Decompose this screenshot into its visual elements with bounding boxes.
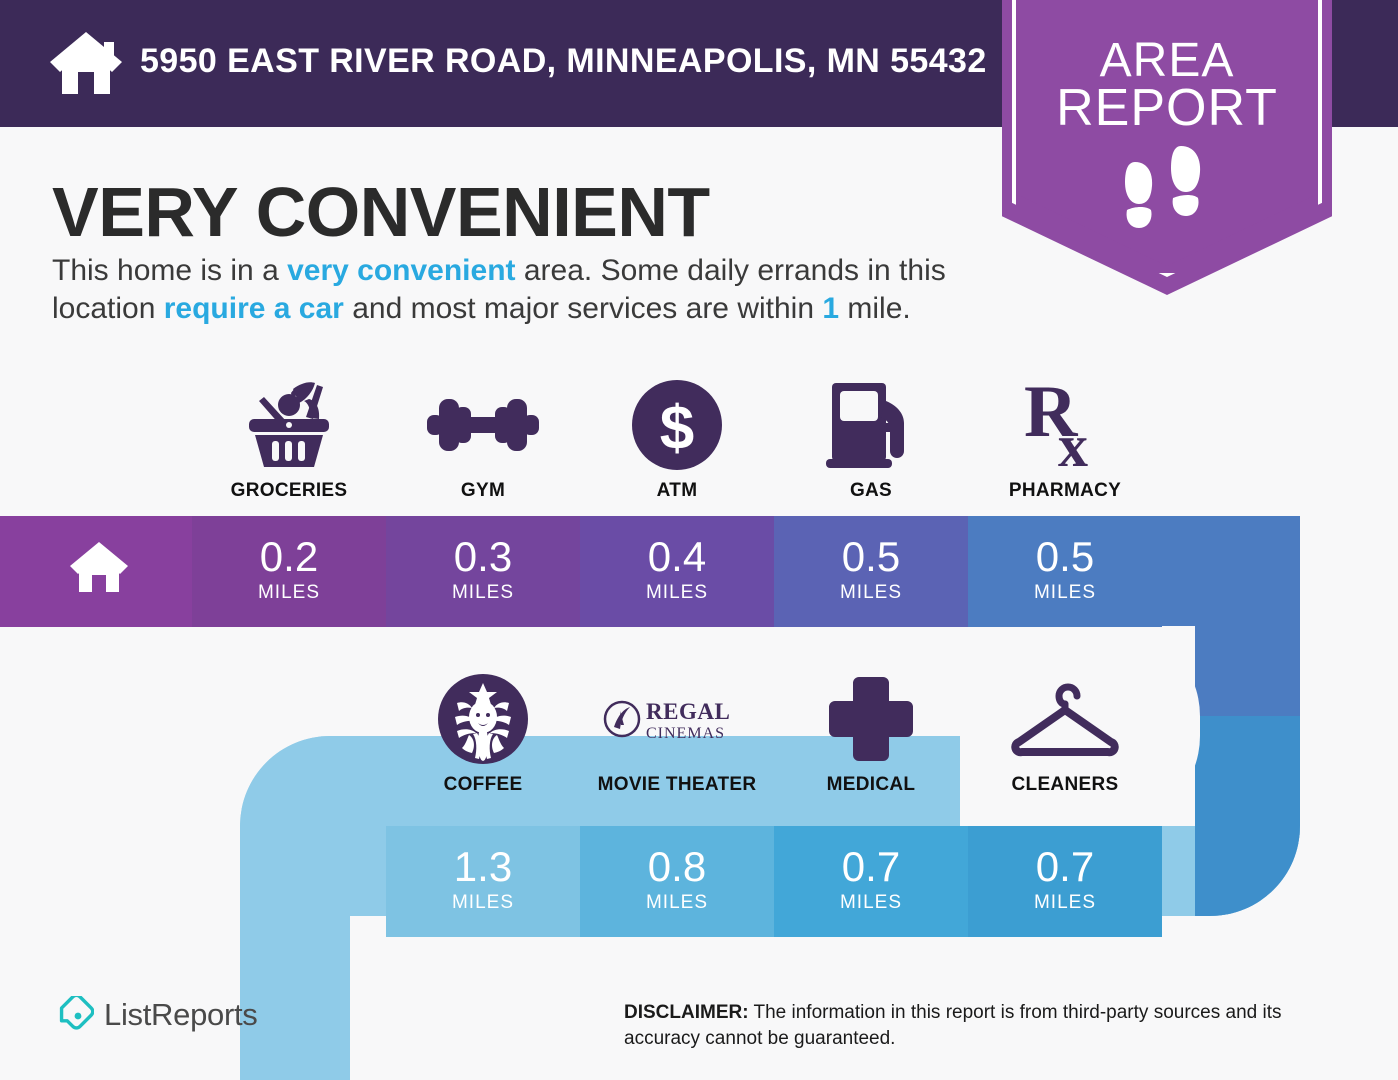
distance-segment-groceries: 0.2 MILES — [192, 516, 386, 627]
distance-segment-atm: 0.4 MILES — [580, 516, 774, 627]
distance-unit: MILES — [386, 582, 580, 604]
icon-label-pharmacy: PHARMACY — [968, 480, 1162, 502]
icon-label-gas: GAS — [774, 480, 968, 502]
icon-label-cleaners: CLEANERS — [968, 774, 1162, 796]
distance-segment-movie-theater: 0.8 MILES — [580, 826, 774, 937]
distance-value: 0.8 — [580, 826, 774, 888]
listreports-logo-text: ListReports — [104, 997, 258, 1033]
icon-label-groceries: GROCERIES — [192, 480, 386, 502]
distance-segment-gym: 0.3 MILES — [386, 516, 580, 627]
distance-segment-cleaners: 0.7 MILES — [968, 826, 1162, 937]
listreports-logo-icon — [56, 996, 94, 1034]
disclaimer: DISCLAIMER: The information in this repo… — [624, 1000, 1354, 1051]
disclaimer-label: DISCLAIMER: — [624, 1002, 749, 1023]
distance-unit: MILES — [192, 582, 386, 604]
distance-unit: MILES — [968, 892, 1162, 914]
distance-segment-coffee: 1.3 MILES — [386, 826, 580, 937]
distance-unit: MILES — [580, 892, 774, 914]
icon-cell-pharmacy: R x PHARMACY — [968, 378, 1162, 502]
distance-value: 0.7 — [968, 826, 1162, 888]
icon-cell-gym: GYM — [386, 378, 580, 502]
distance-segment-pharmacy: 0.5 MILES — [968, 516, 1162, 627]
distance-unit: MILES — [386, 892, 580, 914]
icon-label-atm: ATM — [580, 480, 774, 502]
starbucks-logo-icon — [386, 672, 580, 766]
icon-cell-coffee: COFFEE — [386, 672, 580, 796]
icon-cell-gas: GAS — [774, 378, 968, 502]
icon-cell-movie-theater: REGAL CINEMAS MOVIE THEATER — [580, 672, 774, 796]
icon-cell-atm: $ ATM — [580, 378, 774, 502]
grocery-basket-icon — [192, 378, 386, 472]
regal-cinemas-logo-icon: REGAL CINEMAS — [580, 672, 774, 766]
distance-unit: MILES — [580, 582, 774, 604]
rx-icon: R x — [968, 378, 1162, 472]
medical-cross-icon — [774, 672, 968, 766]
distance-segment-gas: 0.5 MILES — [774, 516, 968, 627]
icon-label-gym: GYM — [386, 480, 580, 502]
clothes-hanger-icon — [968, 672, 1162, 766]
svg-text:$: $ — [660, 394, 694, 463]
home-icon — [68, 540, 130, 594]
icon-cell-groceries: GROCERIES — [192, 378, 386, 502]
gas-pump-icon — [774, 378, 968, 472]
listreports-logo[interactable]: ListReports — [56, 996, 258, 1034]
icon-label-coffee: COFFEE — [386, 774, 580, 796]
dumbbell-icon — [386, 378, 580, 472]
distance-unit: MILES — [774, 892, 968, 914]
svg-text:REGAL: REGAL — [646, 699, 730, 724]
icon-label-movie-theater: MOVIE THEATER — [580, 774, 774, 796]
distance-value: 1.3 — [386, 826, 580, 888]
icon-cell-cleaners: CLEANERS — [968, 672, 1162, 796]
distance-value: 0.5 — [968, 516, 1162, 578]
icon-label-medical: MEDICAL — [774, 774, 968, 796]
distance-value: 0.2 — [192, 516, 386, 578]
svg-text:x: x — [1058, 413, 1088, 472]
distance-value: 0.5 — [774, 516, 968, 578]
icon-cell-medical: MEDICAL — [774, 672, 968, 796]
distance-value: 0.3 — [386, 516, 580, 578]
distance-value: 0.4 — [580, 516, 774, 578]
distance-unit: MILES — [968, 582, 1162, 604]
distance-unit: MILES — [774, 582, 968, 604]
svg-text:CINEMAS: CINEMAS — [646, 725, 725, 742]
distance-value: 0.7 — [774, 826, 968, 888]
dollar-circle-icon: $ — [580, 378, 774, 472]
distance-segment-medical: 0.7 MILES — [774, 826, 968, 937]
